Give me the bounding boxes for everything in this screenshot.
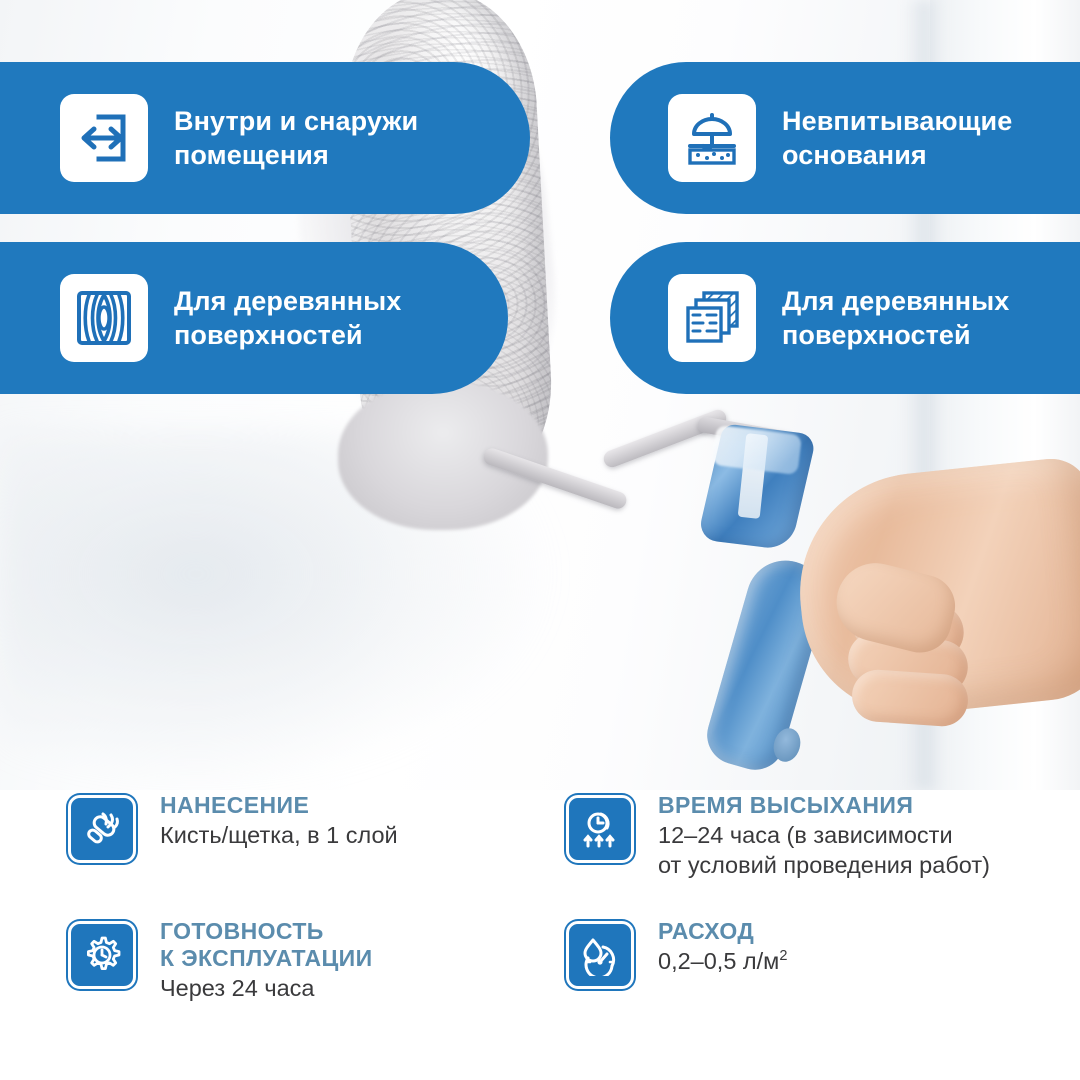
feature-pill-non-absorbent[interactable]: Невпитывающие основания [610, 62, 1080, 214]
feature-pill-label: Для деревянных поверхностей [782, 284, 1009, 352]
spec-value: 12–24 часа (в зависимости от условий про… [658, 821, 990, 880]
spec-value-number: 0,2–0,5 л/м [658, 948, 779, 974]
spec-value: 0,2–0,5 л/м2 [658, 947, 787, 977]
wood-grain-icon [60, 274, 148, 362]
paint-roller-bottom [338, 380, 548, 530]
spec-consumption: РАСХОД 0,2–0,5 л/м2 [566, 918, 787, 989]
spec-title: НАНЕСЕНИЕ [160, 792, 398, 819]
droplet-gauge-icon [566, 921, 634, 989]
spec-value: Кисть/щетка, в 1 слой [160, 821, 398, 851]
gear-clock-icon [68, 921, 136, 989]
spec-value-superscript: 2 [779, 948, 787, 964]
spec-application: НАНЕСЕНИЕ Кисть/щетка, в 1 слой [68, 792, 398, 863]
spec-body: НАНЕСЕНИЕ Кисть/щетка, в 1 слой [160, 792, 398, 851]
stacked-boards-icon [668, 274, 756, 362]
finger [850, 668, 969, 728]
specifications: НАНЕСЕНИЕ Кисть/щетка, в 1 слой [0, 780, 1080, 1080]
feature-pill-label: Невпитывающие основания [782, 104, 1012, 172]
spec-readiness: ГОТОВНОСТЬ К ЭКСПЛУАТАЦИИ Через 24 часа [68, 918, 373, 1003]
feature-pill-label: Для деревянных поверхностей [174, 284, 401, 352]
door-arrow-icon [60, 94, 148, 182]
umbrella-surface-icon [668, 94, 756, 182]
spec-body: РАСХОД 0,2–0,5 л/м2 [658, 918, 787, 977]
worker-hand [740, 440, 1080, 770]
spec-title: ВРЕМЯ ВЫСЫХАНИЯ [658, 792, 990, 819]
spec-title: ГОТОВНОСТЬ К ЭКСПЛУАТАЦИИ [160, 918, 373, 972]
spec-title: РАСХОД [658, 918, 787, 945]
feature-pill-indoor-outdoor[interactable]: Внутри и снаружи помещения [0, 62, 530, 214]
feature-pill-wood-boards[interactable]: Для деревянных поверхностей [610, 242, 1080, 394]
feature-pill-wood-surfaces[interactable]: Для деревянных поверхностей [0, 242, 508, 394]
spec-drying-time: ВРЕМЯ ВЫСЫХАНИЯ 12–24 часа (в зависимост… [566, 792, 990, 880]
paintbrush-icon [68, 795, 136, 863]
feature-pill-label: Внутри и снаружи помещения [174, 104, 418, 172]
spec-body: ВРЕМЯ ВЫСЫХАНИЯ 12–24 часа (в зависимост… [658, 792, 990, 880]
promo-banner: Внутри и снаружи помещения Невпитывающие… [0, 0, 1080, 1080]
drying-clock-icon [566, 795, 634, 863]
spec-value: Через 24 часа [160, 974, 373, 1004]
spec-body: ГОТОВНОСТЬ К ЭКСПЛУАТАЦИИ Через 24 часа [160, 918, 373, 1003]
